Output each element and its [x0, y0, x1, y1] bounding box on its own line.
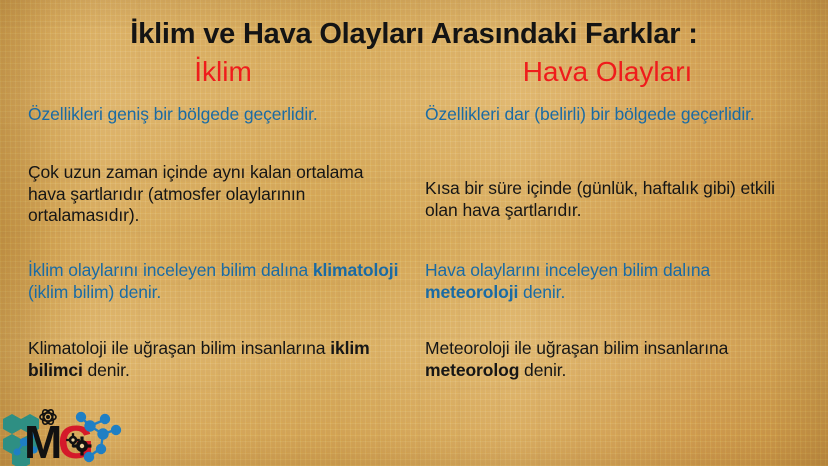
text-run: denir.	[83, 360, 130, 380]
left-paragraph-4: Klimatoloji ile uğraşan bilim insanların…	[28, 338, 400, 381]
emphasis-term: klimatoloji	[313, 260, 398, 280]
text-run: Çok uzun zaman içinde aynı kalan ortalam…	[28, 162, 363, 225]
text-run: Kısa bir süre içinde (günlük, haftalık g…	[425, 178, 775, 220]
text-run: denir.	[518, 282, 565, 302]
right-paragraph-3: Hava olaylarını inceleyen bilim dalına m…	[425, 260, 805, 303]
column-heading-hava-olaylari: Hava Olayları	[500, 56, 715, 88]
right-paragraph-4: Meteoroloji ile uğraşan bilim insanların…	[425, 338, 805, 381]
text-run: Hava olaylarını inceleyen bilim dalına	[425, 260, 710, 280]
left-paragraph-1: Özellikleri geniş bir bölgede geçerlidir…	[28, 104, 400, 126]
text-run: İklim olaylarını inceleyen bilim dalına	[28, 260, 313, 280]
text-run: Özellikleri geniş bir bölgede geçerlidir…	[28, 104, 318, 124]
text-run: Meteoroloji ile uğraşan bilim insanların…	[425, 338, 728, 358]
right-paragraph-1: Özellikleri dar (belirli) bir bölgede ge…	[425, 104, 805, 126]
text-run: (iklim bilim) denir.	[28, 282, 161, 302]
emphasis-term: meteoroloji	[425, 282, 518, 302]
page-title: İklim ve Hava Olayları Arasındaki Farkla…	[0, 18, 828, 51]
brand-logo: M G	[2, 404, 134, 466]
slide-canvas: İklim ve Hava Olayları Arasındaki Farkla…	[0, 0, 828, 466]
column-heading-iklim: İklim	[148, 56, 298, 88]
left-paragraph-3: İklim olaylarını inceleyen bilim dalına …	[28, 260, 400, 303]
right-paragraph-2: Kısa bir süre içinde (günlük, haftalık g…	[425, 178, 805, 221]
text-run: Özellikleri dar (belirli) bir bölgede ge…	[425, 104, 755, 124]
text-run: denir.	[519, 360, 566, 380]
left-paragraph-2: Çok uzun zaman içinde aynı kalan ortalam…	[28, 162, 400, 227]
emphasis-term: meteorolog	[425, 360, 519, 380]
text-run: Klimatoloji ile uğraşan bilim insanların…	[28, 338, 330, 358]
